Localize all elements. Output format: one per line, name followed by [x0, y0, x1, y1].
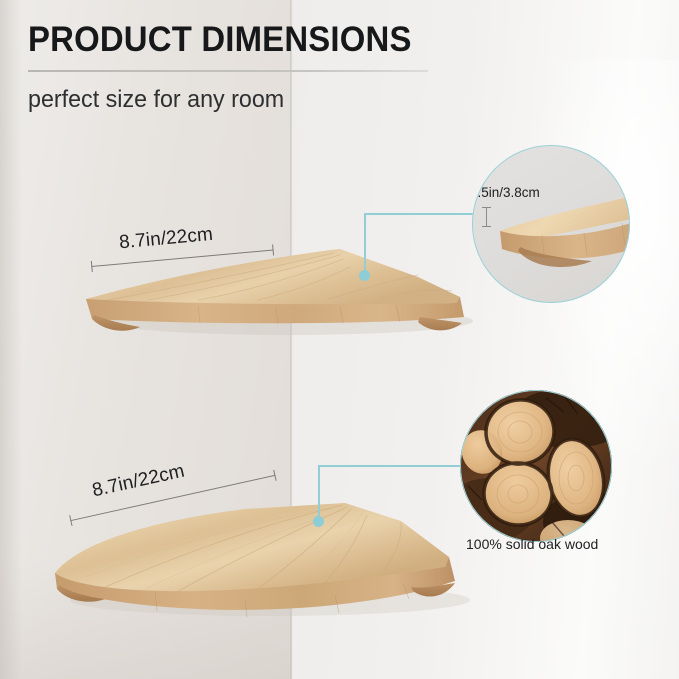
connector-line-material-vertical — [318, 465, 320, 521]
callout-material-graphic — [460, 390, 612, 542]
title-divider — [28, 70, 428, 72]
callout-thickness: 1.5in/3.8cm — [472, 145, 630, 303]
connector-dot-thickness — [359, 270, 370, 281]
callout-thickness-graphic — [472, 145, 630, 303]
connector-line-thickness-horizontal — [364, 213, 476, 215]
callout-material — [460, 390, 612, 542]
page-title: PRODUCT DIMENSIONS — [28, 22, 442, 59]
infographic-canvas: PRODUCT DIMENSIONS perfect size for any … — [0, 0, 679, 679]
connector-line-thickness-vertical — [364, 213, 366, 275]
thickness-dimension-marker — [482, 207, 491, 227]
connector-line-material-horizontal — [318, 465, 466, 467]
thickness-label: 1.5in/3.8cm — [472, 185, 540, 200]
dimension-label-top: 8.7in/22cm — [118, 224, 214, 254]
header-block: PRODUCT DIMENSIONS perfect size for any … — [28, 22, 468, 114]
material-caption: 100% solid oak wood — [466, 536, 598, 552]
page-subtitle: perfect size for any room — [28, 86, 455, 114]
connector-dot-material — [313, 516, 324, 527]
